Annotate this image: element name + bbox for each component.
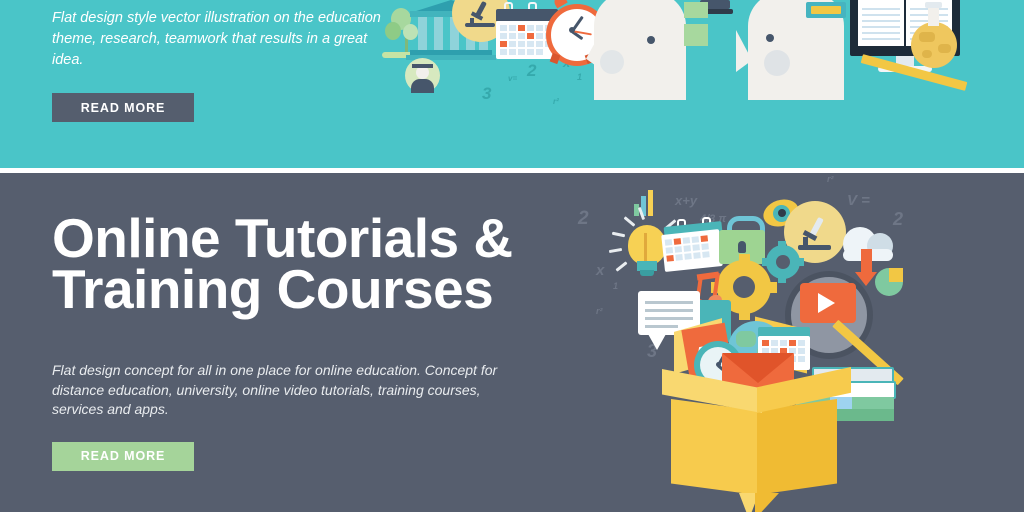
math-symbol-v: v=: [508, 74, 517, 83]
math-symbol-1: 1: [577, 72, 582, 82]
math-symbol-xplusy: x+y: [675, 193, 697, 208]
top-description: Flat design style vector illustration on…: [52, 8, 382, 71]
math-symbol-r: r²: [553, 97, 559, 106]
top-copy-block: Flat design style vector illustration on…: [52, 8, 382, 122]
math-symbol-2-right: 2: [893, 209, 903, 230]
bottom-copy-block: Online Tutorials & Training Courses Flat…: [52, 213, 532, 471]
math-symbol-x-left: x: [596, 262, 604, 279]
top-banner-panel: 3 2 x 1 v= r²: [0, 0, 1024, 168]
bottom-read-more-button[interactable]: READ MORE: [52, 442, 194, 471]
page-title: Online Tutorials & Training Courses: [52, 213, 532, 315]
math-symbol-2-left: 2: [578, 208, 589, 230]
math-symbol-v-equals: V =: [847, 192, 870, 209]
math-symbol-r-left: r²: [596, 306, 603, 316]
top-read-more-button[interactable]: READ MORE: [52, 93, 194, 122]
math-symbol-r-right: r²: [827, 174, 834, 184]
math-symbol-3: 3: [482, 84, 491, 104]
bottom-banner-panel: 2 x 1 3 r² x+y 4/3 π + V = 2 r²: [0, 173, 1024, 512]
math-symbol-1-left: 1: [613, 281, 618, 291]
headline-line-2: Training Courses: [52, 264, 532, 315]
banner-stage: 3 2 x 1 v= r²: [0, 0, 1024, 512]
bottom-description: Flat design concept for all in one place…: [52, 361, 532, 420]
math-symbol-2: 2: [527, 61, 536, 81]
